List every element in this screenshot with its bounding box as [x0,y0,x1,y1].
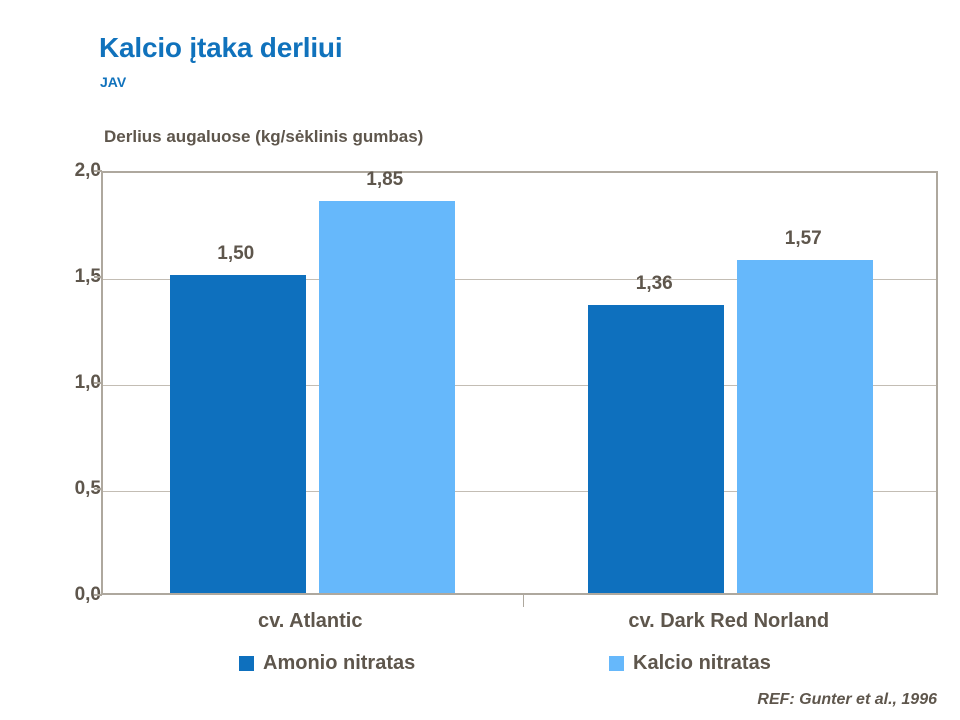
legend-label: Kalcio nitratas [633,652,771,675]
legend-swatch-icon [239,656,254,671]
bar[interactable] [737,260,873,593]
x-axis-category-label: cv. Atlantic [258,610,362,633]
legend-item[interactable]: Kalcio nitratas [609,652,771,675]
y-axis-tick-label: 2,0 [39,160,101,182]
legend-label: Amonio nitratas [263,652,415,675]
bar-value-label: 1,36 [636,273,673,295]
y-axis-tick-label: 0,0 [39,584,101,606]
legend-swatch-icon [609,656,624,671]
legend-item[interactable]: Amonio nitratas [239,652,415,675]
category-separator-tick [523,595,524,607]
bar[interactable] [319,201,455,593]
y-axis-tick-label: 1,0 [39,372,101,394]
page-subtitle: JAV [100,74,126,90]
bar-value-label: 1,85 [366,169,403,191]
y-axis-tick-label: 1,5 [39,266,101,288]
y-axis: 2,01,51,00,50,0 [0,0,101,720]
reference-note: REF: Gunter et al., 1996 [757,691,937,709]
y-axis-tick-label: 0,5 [39,478,101,500]
page-title: Kalcio įtaka derliui [99,32,342,64]
bar[interactable] [588,305,724,593]
bar[interactable] [170,275,306,593]
bar-value-label: 1,57 [785,228,822,250]
y-axis-title: Derlius augaluose (kg/sėklinis gumbas) [104,127,423,147]
bar-value-label: 1,50 [217,243,254,265]
slide-canvas: Kalcio įtaka derliui JAV Derlius augaluo… [0,0,960,720]
x-axis-category-label: cv. Dark Red Norland [628,610,829,633]
